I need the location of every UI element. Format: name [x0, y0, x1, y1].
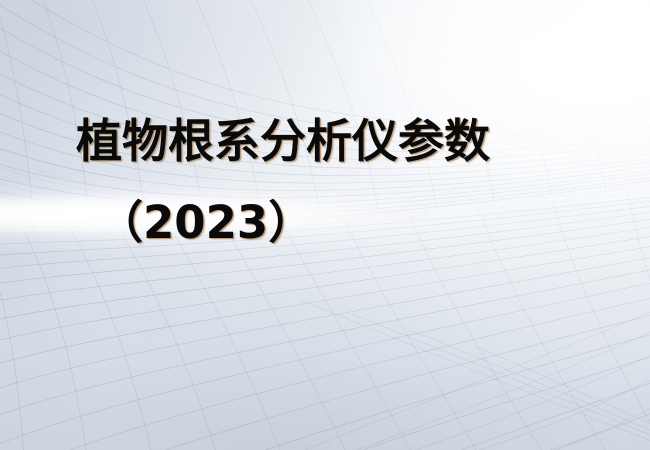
title-slide: 植物根系分析仪参数 （2023）: [0, 0, 650, 450]
title-block: 植物根系分析仪参数 （2023）: [0, 118, 650, 245]
slide-title-line-2: （2023）: [0, 200, 650, 245]
slide-title-line-1: 植物根系分析仪参数: [0, 118, 650, 164]
